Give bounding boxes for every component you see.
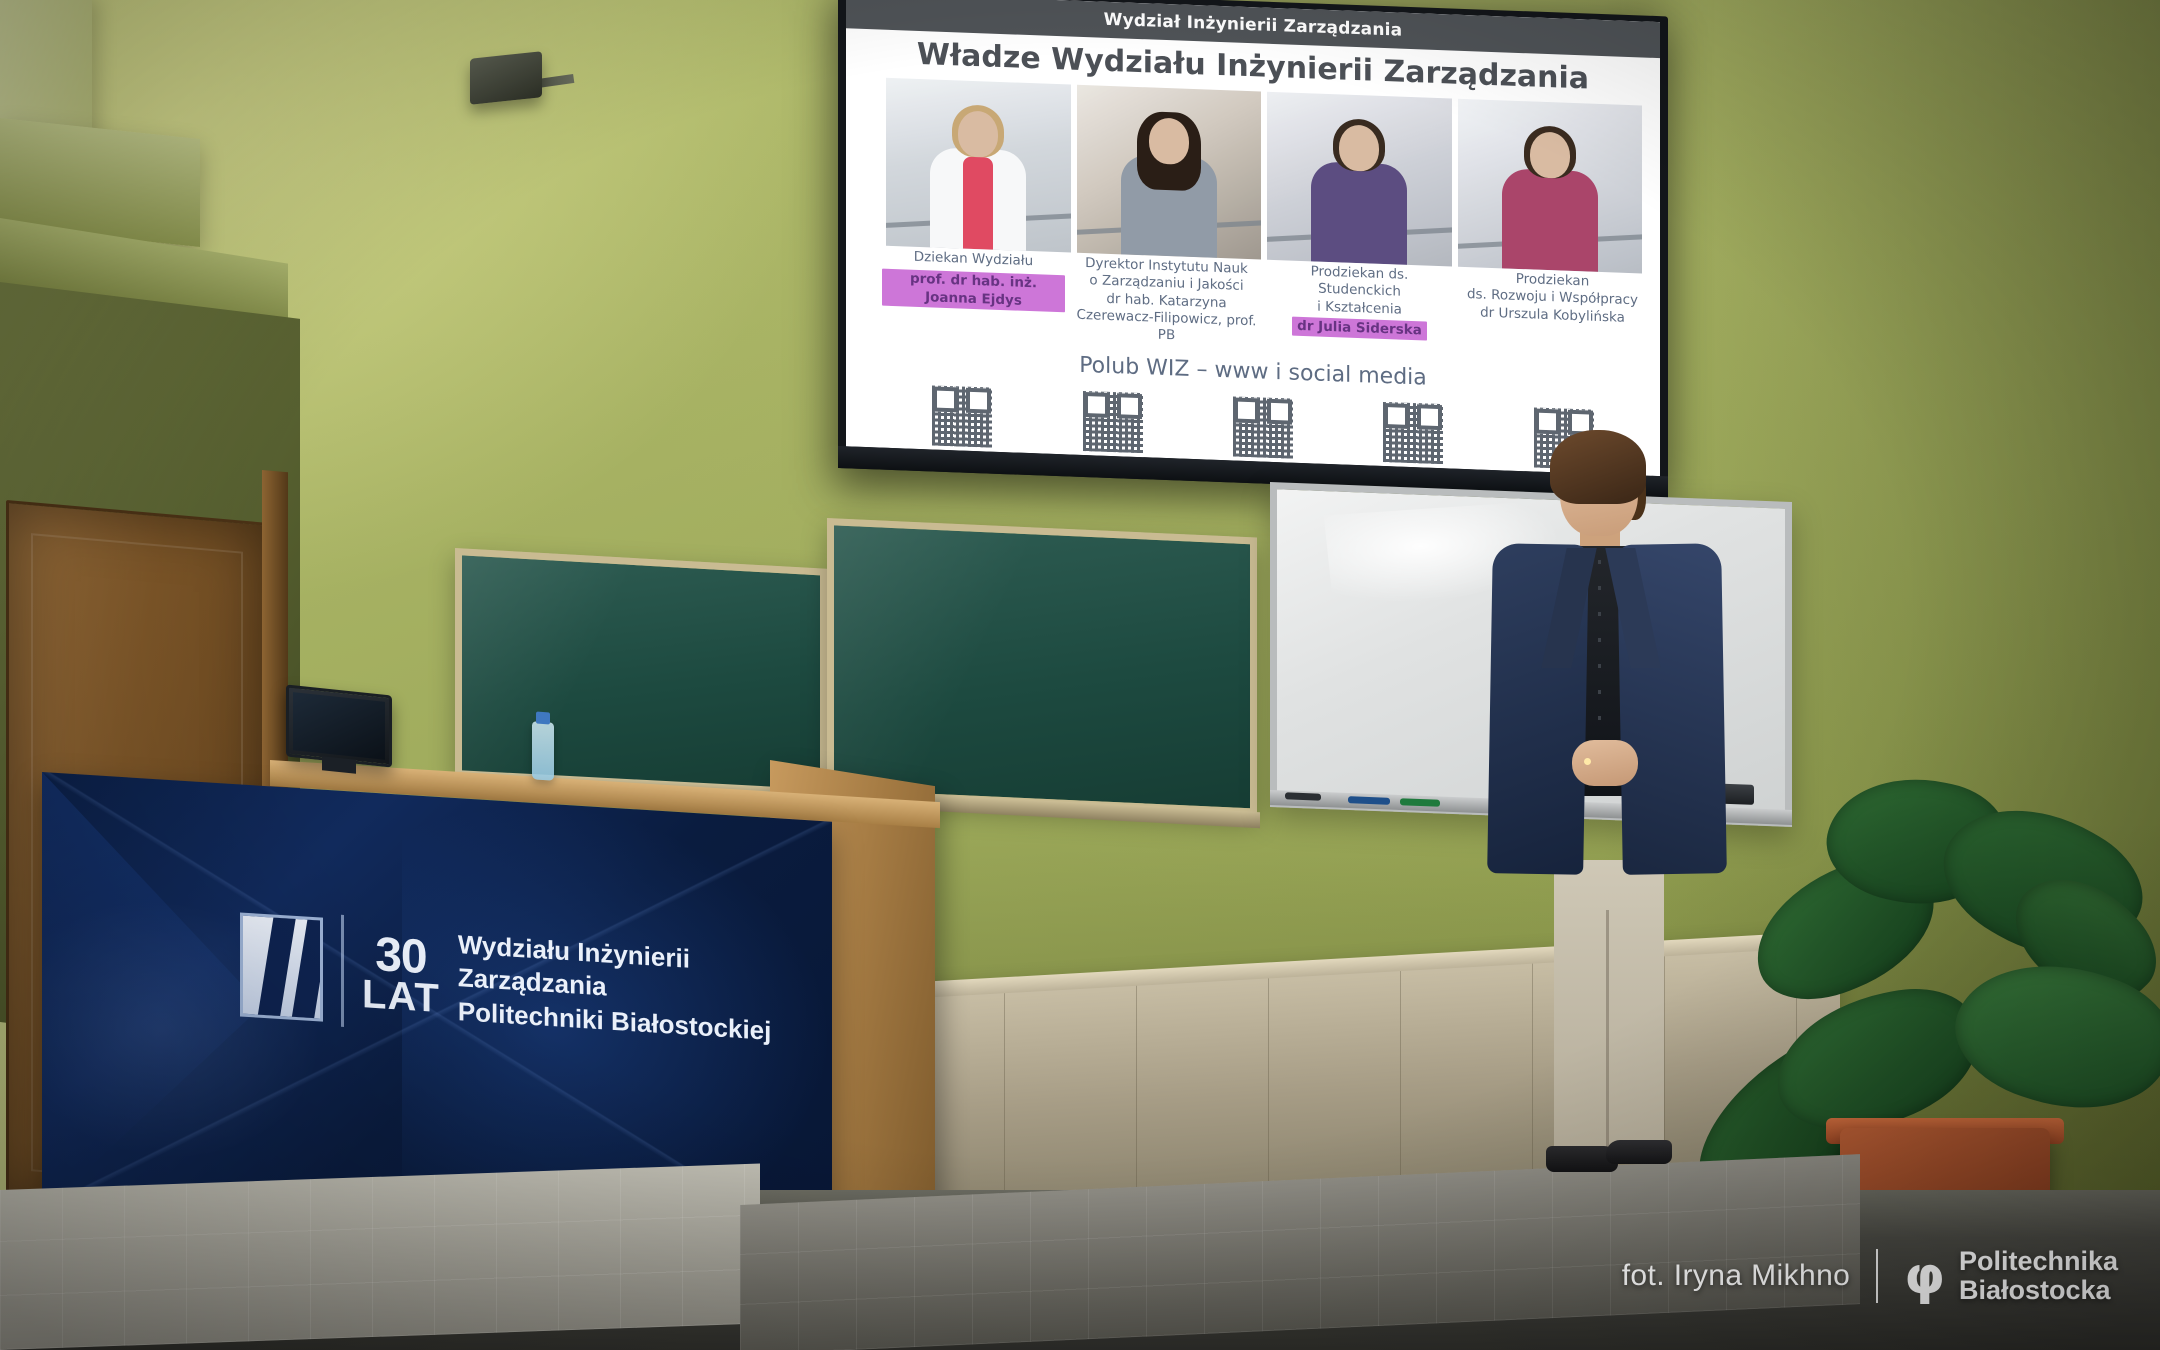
portrait-photo-3 <box>1267 92 1452 267</box>
marker-green-icon <box>1400 798 1440 807</box>
portrait-photo-row <box>886 78 1642 274</box>
head-shape <box>1149 117 1189 164</box>
person-figure <box>1311 123 1407 265</box>
body-shape <box>1502 168 1598 272</box>
water-bottle <box>532 721 554 781</box>
anniversary-count: 30 LAT <box>362 932 440 1018</box>
portrait-photo-1 <box>886 78 1071 253</box>
person-name-highlighted: prof. dr hab. inż. Joanna Ejdys <box>882 269 1065 312</box>
monitor <box>286 684 392 767</box>
person-figure <box>930 109 1026 251</box>
blackboard-center <box>827 518 1257 816</box>
photo-credit-text: fot. Iryna Mikhno <box>1622 1259 1851 1293</box>
head-shape <box>1339 124 1379 171</box>
pa-speaker-icon <box>470 51 542 105</box>
pb-logo-mark-icon <box>240 912 323 1021</box>
university-name: Politechnika Białostocka <box>1959 1247 2118 1306</box>
presentation-slide: Wydział Inżynierii Zarządzania Władze Wy… <box>846 0 1660 476</box>
hands <box>1572 740 1638 786</box>
qr-code-icon <box>1083 391 1143 453</box>
qr-code-icon <box>1383 402 1443 464</box>
person-name-highlighted: dr Julia Siderska <box>1292 316 1427 340</box>
shirt-shape <box>963 157 993 250</box>
shirt-buttons <box>1598 560 1601 770</box>
photo-credit-watermark: fot. Iryna Mikhno φ Politechnika Białost… <box>1622 1247 2118 1306</box>
person-caption-1: Dziekan Wydziału prof. dr hab. inż. Joan… <box>880 248 1067 347</box>
head-shape <box>958 110 998 157</box>
floor-tiles-left <box>0 1163 760 1350</box>
university-logo-icon: φ <box>1904 1256 1945 1298</box>
person-name: dr hab. Katarzyna Czerewacz-Filipowicz, … <box>1075 289 1258 348</box>
projection-screen: Wydział Inżynierii Zarządzania Władze Wy… <box>838 0 1668 498</box>
body-shape <box>930 147 1026 251</box>
person-figure <box>1502 130 1598 272</box>
blackboard-sheen <box>834 525 1250 808</box>
university-name-line-2: Białostocka <box>1959 1276 2118 1306</box>
head-shape <box>1530 131 1570 178</box>
monitor-screen <box>293 692 385 760</box>
screen-surface: Wydział Inżynierii Zarządzania Władze Wy… <box>846 0 1660 476</box>
portrait-photo-2 <box>1077 85 1262 260</box>
logo-stripe <box>255 912 297 1021</box>
watermark-divider <box>1876 1249 1878 1303</box>
marker-black-icon <box>1285 792 1321 800</box>
university-name-line-1: Politechnika <box>1959 1247 2118 1277</box>
shoe-right <box>1606 1140 1672 1164</box>
portrait-photo-4 <box>1458 99 1643 274</box>
qr-code-icon <box>1233 396 1293 458</box>
person-caption-3: Prodziekan ds. Studenckich i Kształcenia… <box>1266 262 1453 361</box>
presenter-person <box>1480 440 1740 1200</box>
qr-code-icon <box>932 385 992 447</box>
logo-divider <box>341 915 344 1027</box>
hair <box>1550 430 1646 504</box>
university-logo: φ Politechnika Białostocka <box>1904 1247 2118 1306</box>
photograph-scene: Wydział Inżynierii Zarządzania Władze Wy… <box>0 0 2160 1350</box>
person-caption-2: Dyrektor Instytutu Nauk o Zarządzaniu i … <box>1073 255 1260 354</box>
person-caption-4: Prodziekan ds. Rozwoju i Współpracy dr U… <box>1459 269 1646 368</box>
blackboard-sheen <box>462 555 820 793</box>
bottle-cap-icon <box>536 712 550 725</box>
banner-text: Wydziału Inżynierii Zarządzania Politech… <box>458 928 832 1051</box>
ring-icon <box>1584 758 1591 765</box>
anniversary-word: LAT <box>362 976 440 1018</box>
body-shape <box>1311 161 1407 265</box>
trousers <box>1554 860 1664 1160</box>
person-figure <box>1121 116 1217 258</box>
trouser-seam <box>1606 910 1609 1160</box>
